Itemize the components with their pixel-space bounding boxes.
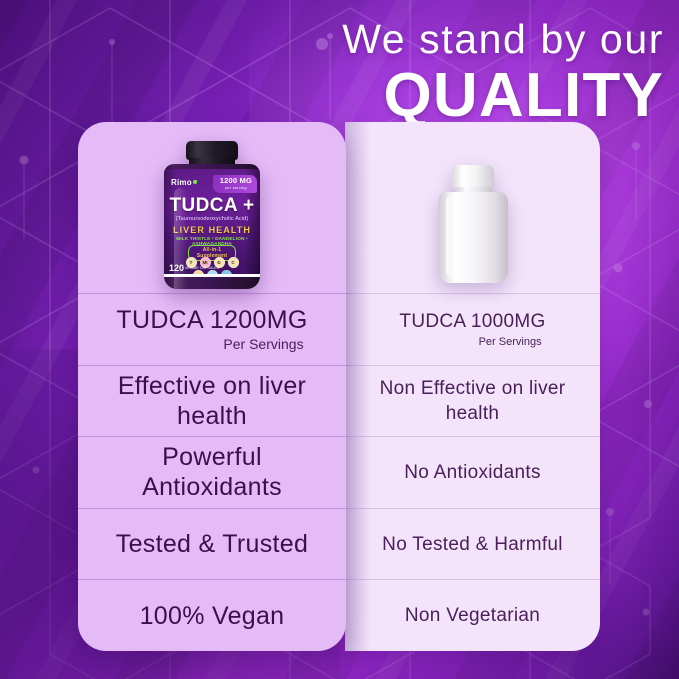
table-row-ours-vegan: 100% Vegan <box>78 579 346 651</box>
cell-theirs-antioxidants: No Antioxidants <box>404 460 541 485</box>
bottle-highlight <box>174 188 187 289</box>
competitor-bottle-image <box>436 165 510 283</box>
headline: We stand by our QUALITY <box>250 14 664 128</box>
comparison-column-ours: Rimo 1200 MG per serving TUDCA + (Taurou… <box>78 122 346 651</box>
table-row-ours-dose: TUDCA 1200MG Per Servings <box>78 293 346 365</box>
tudca-bottle-image: Rimo 1200 MG per serving TUDCA + (Taurou… <box>160 141 264 289</box>
competitor-bottle-cap <box>452 165 494 189</box>
cell-theirs-dose-main: TUDCA 1000MG <box>399 311 545 332</box>
headline-line-2: QUALITY <box>250 64 664 128</box>
cell-theirs-dose-sub: Per Servings <box>399 335 545 349</box>
cell-ours-antioxidants: Powerful Antioxidants <box>92 442 332 502</box>
brand-name: Rimo <box>171 178 192 187</box>
table-row-ours-tested: Tested & Trusted <box>78 508 346 580</box>
ingredient-icon-c: C <box>228 257 239 268</box>
brand-logo: Rimo <box>171 178 197 187</box>
headline-line-1: We stand by our <box>250 14 664 64</box>
leaf-icon <box>193 180 197 184</box>
cell-theirs-dose: TUDCA 1000MG Per Servings <box>399 309 545 349</box>
dose-amount: 1200 MG <box>220 177 252 184</box>
cell-theirs-tested: No Tested & Harmful <box>382 532 563 557</box>
cell-ours-dose-main: TUDCA 1200MG <box>116 306 307 334</box>
infographic-canvas: We stand by our QUALITY Rimo 1200 <box>0 0 679 679</box>
cell-ours-dose: TUDCA 1200MG Per Servings <box>116 305 307 353</box>
dose-unit: per serving <box>220 184 252 191</box>
competitor-bottle-highlight <box>446 195 457 277</box>
table-row-ours-antioxidants: Powerful Antioxidants <box>78 436 346 508</box>
our-product-image-cell: Rimo 1200 MG per serving TUDCA + (Taurou… <box>78 122 346 293</box>
cell-theirs-liver: Non Effective on liver health <box>359 376 586 426</box>
comparison-table: Rimo 1200 MG per serving TUDCA + (Taurou… <box>78 122 601 651</box>
table-row-ours-liver: Effective on liver health <box>78 365 346 437</box>
competitor-product-image-cell <box>345 122 600 293</box>
table-row-theirs-tested: No Tested & Harmful <box>345 508 600 580</box>
capsule-count-unit: VEGGIE CAPSULES <box>185 266 219 270</box>
cell-ours-liver: Effective on liver health <box>92 371 332 431</box>
table-row-theirs-dose: TUDCA 1000MG Per Servings <box>345 293 600 365</box>
comparison-column-theirs: TUDCA 1000MG Per Servings Non Effective … <box>345 122 600 651</box>
bottle-body: Rimo 1200 MG per serving TUDCA + (Taurou… <box>164 164 260 289</box>
cell-ours-tested: Tested & Trusted <box>116 529 308 559</box>
table-row-theirs-liver: Non Effective on liver health <box>345 365 600 437</box>
table-row-theirs-vegan: Non Vegetarian <box>345 579 600 651</box>
table-row-theirs-antioxidants: No Antioxidants <box>345 436 600 508</box>
dose-badge: 1200 MG per serving <box>213 175 257 193</box>
cell-theirs-vegan: Non Vegetarian <box>405 603 540 628</box>
cell-ours-vegan: 100% Vegan <box>140 601 285 631</box>
cell-ours-dose-sub: Per Servings <box>116 336 307 353</box>
